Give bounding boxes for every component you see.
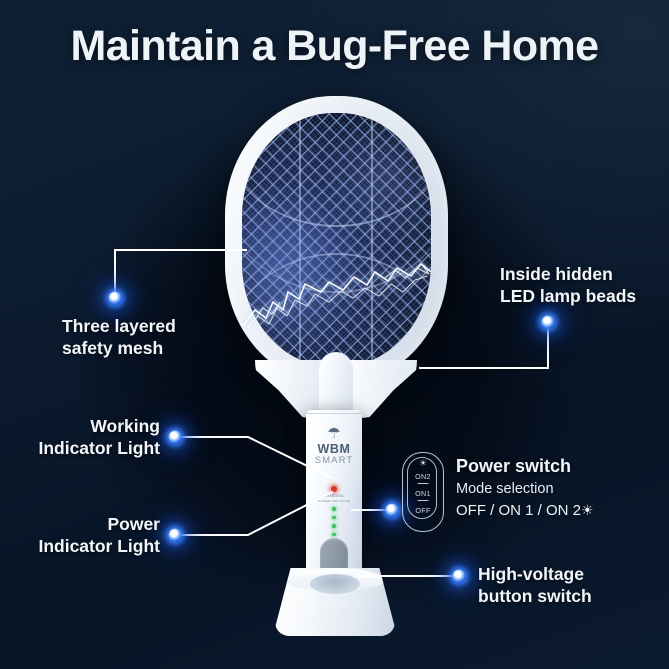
callout-line-1: Working xyxy=(38,415,160,437)
working-led-4 xyxy=(332,533,336,537)
power-switch-text-block: Power switch Mode selection OFF / ON 1 /… xyxy=(456,455,594,516)
callout-label-high-voltage: High-voltage button switch xyxy=(478,563,592,608)
callout-label-power-indicator: Power Indicator Light xyxy=(38,513,160,558)
bulb-icon: ☀ xyxy=(403,459,443,468)
power-switch-modes-text: OFF / ON 1 / ON 2 xyxy=(456,502,581,519)
base-slot xyxy=(310,574,360,594)
switch-divider-1 xyxy=(418,483,429,484)
callout-line-1: Three layered xyxy=(62,315,176,337)
callout-line-2: Indicator Light xyxy=(38,437,160,459)
callout-dot-power-indicator[interactable] xyxy=(169,529,182,542)
brand-tagline: SMART xyxy=(306,455,362,466)
callout-line-2: Indicator Light xyxy=(38,535,160,557)
power-switch-subtitle: Mode selection xyxy=(456,480,594,499)
callout-label-working-indicator: Working Indicator Light xyxy=(38,415,160,460)
callout-dot-power-switch[interactable] xyxy=(386,504,399,517)
racket-handle: ☂ WBM SMART CHARGING POWER INDICATOR ON xyxy=(306,410,362,588)
switch-position-on1: ON1 xyxy=(403,489,443,498)
callout-line-1: Inside hidden xyxy=(500,263,636,285)
callout-line-2: safety mesh xyxy=(62,337,176,359)
callout-dot-high-voltage[interactable] xyxy=(453,570,466,583)
callout-label-led-beads: Inside hidden LED lamp beads xyxy=(500,263,636,308)
callout-dot-led-beads[interactable] xyxy=(542,316,555,329)
umbrella-icon: ☂ xyxy=(306,426,362,441)
infographic-canvas: Maintain a Bug-Free Home xyxy=(0,0,669,669)
callout-dot-safety-mesh[interactable] xyxy=(109,292,122,305)
sun-bulb-icon: ☀ xyxy=(581,502,594,518)
callout-label-safety-mesh: Three layered safety mesh xyxy=(62,315,176,360)
brand-name: WBM xyxy=(306,442,362,456)
charging-base xyxy=(275,568,395,636)
callout-line-2: LED lamp beads xyxy=(500,285,636,307)
callout-line-1: Power xyxy=(38,513,160,535)
callout-line-1: High-voltage xyxy=(478,563,592,585)
working-led-1 xyxy=(332,507,336,511)
power-switch-modes: OFF / ON 1 / ON 2☀ xyxy=(456,501,594,520)
power-indicator-caption-sub: POWER INDICATOR xyxy=(306,499,362,503)
callout-line-2: button switch xyxy=(478,585,592,607)
electric-arc-icon xyxy=(225,96,448,384)
power-switch-diagram[interactable]: ☀ ON2 ON1 OFF xyxy=(402,452,444,532)
working-led-3 xyxy=(332,524,336,528)
power-indicator-caption: CHARGING xyxy=(306,494,362,498)
handle-seam xyxy=(306,413,362,414)
switch-position-off: OFF xyxy=(403,506,443,515)
callout-dot-working-indicator[interactable] xyxy=(169,431,182,444)
working-led-2 xyxy=(332,516,336,520)
switch-position-on2: ON2 xyxy=(403,472,443,481)
brand-mark: ☂ WBM SMART xyxy=(306,426,362,466)
power-indicator-led xyxy=(331,486,337,492)
power-switch-title: Power switch xyxy=(456,455,594,478)
switch-divider-2 xyxy=(418,500,429,501)
